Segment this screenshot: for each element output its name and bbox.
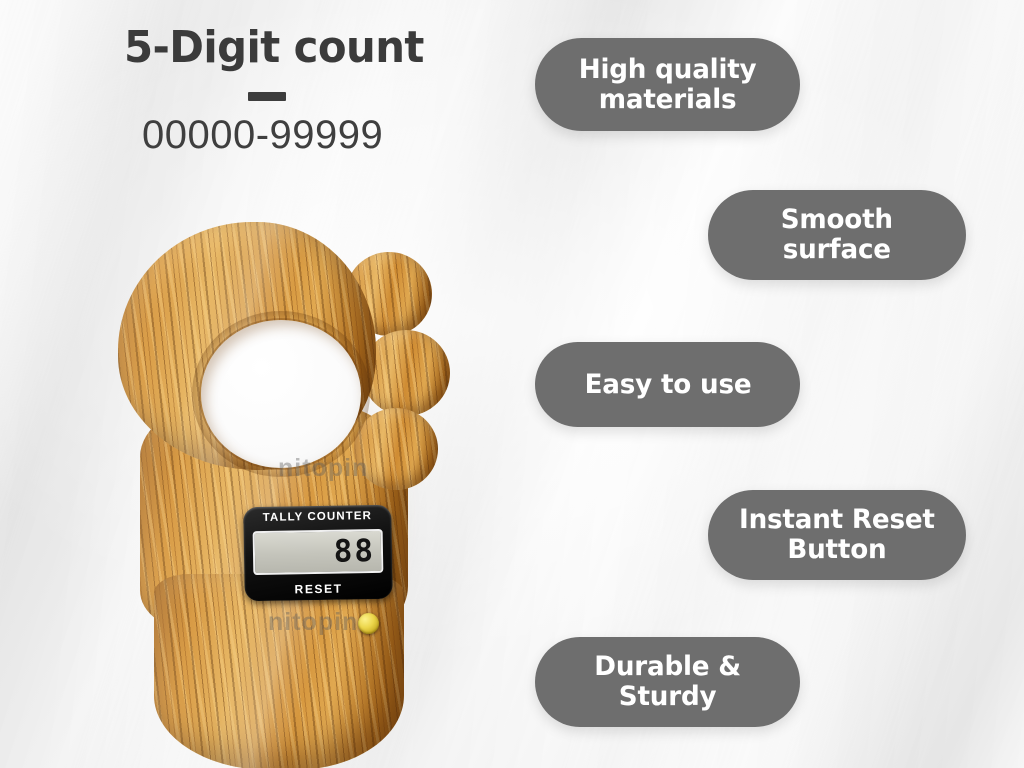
reset-button[interactable] [358,613,379,634]
feature-pill-high-quality-materials[interactable]: High quality materials [535,38,800,131]
lcd-title-label: TALLY COUNTER [243,510,391,525]
lcd-screen: 88 [253,529,384,575]
feature-pill-label: Instant Reset Button [739,505,935,564]
feature-pill-instant-reset-button[interactable]: Instant Reset Button [708,490,966,580]
title-divider [248,92,286,101]
feature-pill-label: High quality materials [579,55,757,114]
headline-block: 5-Digit count 00000-99999 [124,26,544,155]
finger-ring-hole [201,320,361,468]
lcd-digit-readout: 88 [333,536,375,568]
feature-pill-durable-sturdy[interactable]: Durable & Sturdy [535,637,800,727]
feature-pill-smooth-surface[interactable]: Smooth surface [708,190,966,280]
count-range-label: 00000-99999 [124,115,544,155]
product-feature-graphic: 5-Digit count 00000-99999 High quality m… [0,0,1024,768]
product-image-tally-counter: nitopin nitopin TALLY COUNTER 88 RESET [96,222,496,768]
page-title: 5-Digit count [124,26,523,71]
feature-pill-easy-to-use[interactable]: Easy to use [535,342,800,427]
lcd-display-module: TALLY COUNTER 88 RESET [243,505,393,602]
lcd-reset-label: RESET [245,581,393,598]
feature-pill-label: Easy to use [584,370,751,400]
feature-pill-label: Durable & Sturdy [594,652,741,711]
product-handle [154,574,404,768]
handle-highlight [154,574,404,768]
feature-pill-label: Smooth surface [781,205,893,264]
